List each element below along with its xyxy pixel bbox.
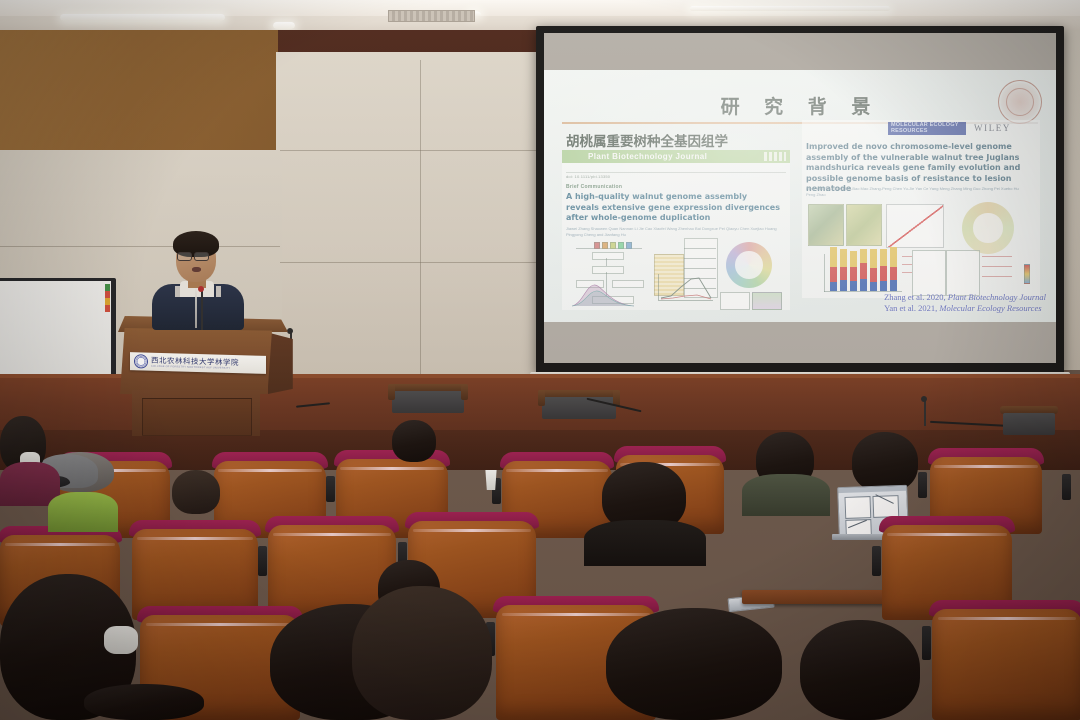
- marker-icon: [105, 298, 110, 305]
- mic-stem: [924, 398, 926, 426]
- seat-piping: [502, 613, 649, 616]
- mic-stem: [201, 290, 203, 330]
- bar: [840, 267, 847, 291]
- chair-pad: [542, 397, 616, 419]
- journal-badge-icon: [764, 152, 786, 161]
- sample-swatch: [626, 242, 632, 249]
- university-seal-icon: [998, 80, 1042, 124]
- slide-citations: Zhang et al. 2020, Plant Biotechnology J…: [884, 292, 1046, 314]
- seat-piping: [340, 467, 443, 470]
- audience-head: [800, 620, 920, 720]
- journal-logo-right: MOLECULAR ECOLOGY RESOURCES: [888, 122, 966, 135]
- flow-connector: [576, 248, 642, 249]
- journal-meta-left: doi: 10.1111/pbi.13350: [566, 174, 686, 179]
- seat-hinge: [922, 626, 931, 660]
- rule: [566, 172, 786, 173]
- seat-piping: [413, 529, 531, 532]
- podium-base: [132, 390, 260, 436]
- seat-hinge: [872, 546, 881, 576]
- table-row-line: [684, 268, 716, 269]
- panel-seam: [280, 150, 540, 151]
- bar: [850, 269, 857, 291]
- seat-piping: [887, 533, 1007, 536]
- annotation-line: [982, 276, 1012, 277]
- seat-hinge: [918, 472, 927, 498]
- slide-section-heading: 胡桃属重要树种全基因组学: [566, 130, 728, 150]
- paper-card-left: Plant Biotechnology Journal doi: 10.1111…: [562, 150, 790, 310]
- seat-writing-desk: [742, 590, 892, 604]
- ridge-curves: [568, 280, 638, 308]
- article-title-left: A high-quality walnut genome assembly re…: [566, 192, 780, 224]
- article-authors-left: Jiawei Zhang Shaowen Quan Nannan Li Jie …: [566, 226, 780, 237]
- glasses-icon: [194, 252, 209, 261]
- seat[interactable]: [132, 520, 258, 620]
- lecture-hall-photo: 研 究 背 景 胡桃属重要树种全基因组学 Plant Biotechnology…: [0, 0, 1080, 720]
- audience-head: [852, 432, 918, 492]
- journal-name-left: Plant Biotechnology Journal: [588, 152, 707, 161]
- annotation-line: [902, 256, 912, 257]
- equipment-body: [1003, 413, 1055, 435]
- chair-pad: [392, 391, 464, 413]
- figure-dotplot: [886, 204, 944, 248]
- figure-line-chart: [658, 274, 713, 301]
- figure-panel: [752, 292, 782, 310]
- seat-hinge: [258, 546, 267, 576]
- bar: [870, 270, 877, 291]
- seat-piping: [5, 543, 115, 546]
- seat-piping: [273, 533, 391, 536]
- audience-shoulders: [584, 520, 706, 566]
- stage-chair: [538, 390, 620, 422]
- journal-name-right: MOLECULAR ECOLOGY RESOURCES: [891, 122, 966, 134]
- flow-connector: [606, 258, 607, 266]
- audience-head-foreground: [606, 608, 782, 720]
- speaker-sweater-stripe: [175, 286, 180, 297]
- presentation-slide: 研 究 背 景 胡桃属重要树种全基因组学 Plant Biotechnology…: [544, 70, 1056, 322]
- table-row-line: [684, 248, 716, 249]
- flow-node: [592, 266, 624, 274]
- speaker-sweater-stripe: [216, 286, 221, 297]
- chart-axis: [824, 254, 825, 292]
- university-emblem-icon: [134, 354, 148, 368]
- paper-card-right: MOLECULAR ECOLOGY RESOURCES WILEY Improv…: [802, 120, 1040, 298]
- ceiling-vent: [388, 10, 475, 22]
- speaker-mouth: [192, 267, 201, 272]
- figure-annotation-lines: [902, 252, 1032, 294]
- sample-swatch: [594, 242, 600, 249]
- citation-line: Yan et al. 2021, Molecular Ecology Resou…: [884, 303, 1046, 314]
- podium-base-inset: [142, 398, 252, 436]
- annotation-line: [902, 272, 912, 273]
- chair-arm: [461, 384, 468, 400]
- seat-hinge: [326, 476, 335, 502]
- annotation-line: [902, 264, 912, 265]
- stage-microphone: [920, 398, 930, 428]
- sample-swatch: [610, 242, 616, 249]
- panel-seam: [280, 262, 540, 263]
- bar: [880, 268, 887, 291]
- figure-plant-photo: [808, 204, 844, 246]
- laptop-chart-panel: [844, 496, 871, 519]
- seat-back: [932, 609, 1080, 720]
- projection-screen: 研 究 背 景 胡桃属重要树种全基因组学 Plant Biotechnology…: [536, 26, 1064, 374]
- bar: [890, 266, 897, 291]
- audience-head-foreground: [352, 586, 492, 720]
- laptop-menubar: [838, 486, 906, 493]
- flow-node: [592, 252, 624, 260]
- bar: [830, 271, 837, 291]
- sample-swatch: [618, 242, 624, 249]
- chair-arm: [388, 384, 395, 400]
- table-row-line: [684, 258, 716, 259]
- journal-banner-left: Plant Biotechnology Journal: [562, 150, 790, 163]
- annotation-line: [982, 266, 1012, 267]
- article-type-left: Brief Communication: [566, 184, 622, 190]
- figure-ridge-plot: [568, 280, 638, 308]
- figure-circos-plot: [726, 242, 772, 288]
- podium-microphone: [196, 286, 208, 330]
- seat-hinge: [1062, 474, 1071, 500]
- ceiling-light: [690, 6, 890, 11]
- line-chart-curve: [659, 274, 713, 300]
- citation-line: Zhang et al. 2020, Plant Biotechnology J…: [884, 292, 1046, 303]
- podium-front: 西北农林科技大学林学院 COLLEGE OF FORESTRY NORTHWES…: [120, 328, 272, 394]
- seat-piping: [506, 469, 607, 472]
- seat-piping: [218, 469, 321, 472]
- face-mask: [104, 626, 138, 654]
- audience-shoulders: [742, 474, 830, 516]
- ceiling-light: [273, 22, 295, 29]
- marker-icon: [105, 305, 110, 312]
- audience-head: [392, 420, 436, 462]
- podium-plaque: 西北农林科技大学林学院 COLLEGE OF FORESTRY NORTHWES…: [130, 352, 266, 374]
- podium: 西北农林科技大学林学院 COLLEGE OF FORESTRY NORTHWES…: [118, 316, 288, 436]
- projector-letterbox-bottom: [544, 322, 1056, 363]
- seat-piping: [137, 537, 253, 540]
- slide-title: 研 究 背 景: [544, 92, 1056, 119]
- audience-head-foreground: [84, 684, 204, 720]
- figure-circos-plot-right: [962, 202, 1014, 254]
- projector-letterbox-top: [544, 33, 1056, 70]
- seat-piping: [938, 617, 1076, 620]
- article-authors-right: Feng Yan Rui-Min Xu Rui-Bao Mao Zhang-Pe…: [806, 186, 1028, 197]
- seat-piping: [934, 465, 1037, 468]
- projection-surface: 研 究 背 景 胡桃属重要树种全基因组学 Plant Biotechnology…: [544, 33, 1056, 363]
- wall-panel-beige: [276, 52, 540, 382]
- ceiling-light: [60, 14, 225, 21]
- mic-head: [198, 286, 204, 292]
- marker-icon: [105, 284, 110, 291]
- stage-equipment-box: [1000, 406, 1058, 432]
- figure-stacked-bar-chart: [824, 252, 902, 292]
- stage-chair: [388, 384, 468, 416]
- seat-piping: [146, 623, 293, 626]
- sample-swatch: [602, 242, 608, 249]
- figure-plant-photo: [846, 204, 882, 246]
- seat[interactable]: [932, 600, 1080, 720]
- glasses-icon: [177, 252, 192, 261]
- figure-panel: [720, 292, 750, 310]
- bar: [860, 265, 867, 291]
- mic-head: [921, 396, 927, 402]
- publisher-logo: WILEY: [974, 123, 1011, 133]
- chair-arm: [538, 390, 545, 406]
- colorbar: [1024, 264, 1030, 284]
- annotation-line: [982, 256, 1012, 257]
- marker-icon: [105, 291, 110, 298]
- panel-seam: [420, 60, 421, 380]
- audience-head: [172, 470, 220, 514]
- audience-shoulders: [48, 492, 118, 532]
